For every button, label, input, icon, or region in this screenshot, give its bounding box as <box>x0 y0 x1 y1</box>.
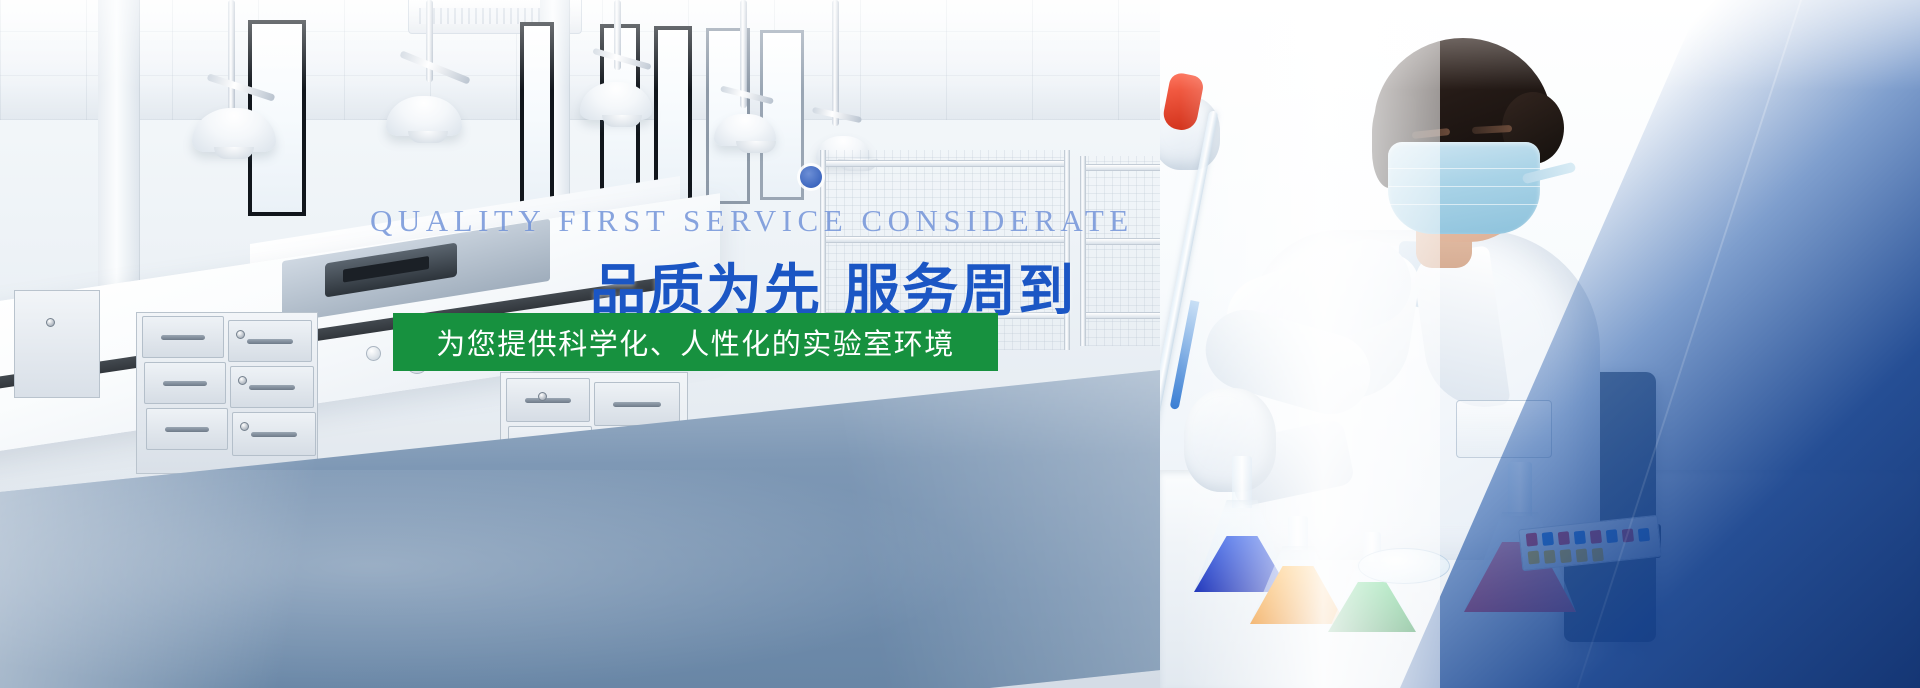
english-tagline: QUALITY FIRST SERVICE CONSIDERATE <box>370 203 1134 239</box>
hero-banner: QUALITY FIRST SERVICE CONSIDERATE 品质为先服务… <box>0 0 1920 688</box>
subtitle-text: 为您提供科学化、人性化的实验室环境 <box>436 321 955 363</box>
subtitle-green-bar: 为您提供科学化、人性化的实验室环境 <box>393 313 998 371</box>
banner-text-block: QUALITY FIRST SERVICE CONSIDERATE 品质为先服务… <box>0 0 1920 688</box>
